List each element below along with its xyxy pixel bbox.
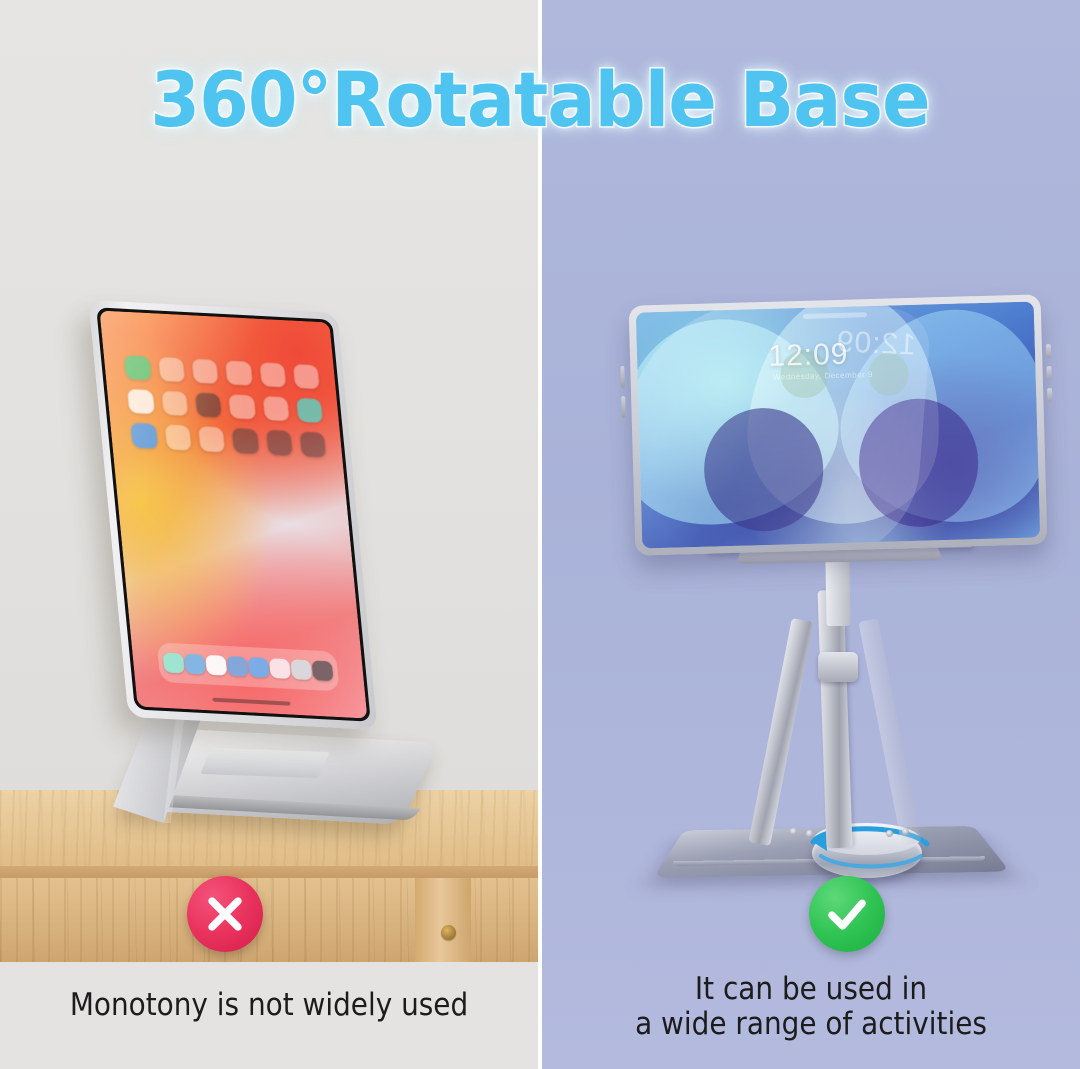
tablet-screen-portrait bbox=[96, 307, 371, 721]
desk-leg bbox=[415, 878, 471, 970]
stand-device-lip bbox=[200, 748, 330, 778]
dock-icon bbox=[226, 656, 248, 677]
app-icon bbox=[296, 398, 323, 423]
app-icon bbox=[165, 425, 192, 450]
caption-right: It can be used in a wide range of activi… bbox=[569, 972, 1053, 1043]
home-screen-wallpaper bbox=[99, 310, 367, 718]
tablet-dock bbox=[157, 643, 340, 692]
panel-divider bbox=[538, 0, 542, 1069]
app-icon bbox=[293, 364, 320, 389]
caption-left: Monotony is not widely used bbox=[27, 988, 511, 1023]
dock-icon bbox=[163, 653, 185, 674]
app-icon bbox=[192, 359, 219, 384]
app-icon bbox=[128, 389, 155, 414]
dock-icon bbox=[290, 659, 312, 680]
app-icon bbox=[131, 423, 158, 448]
dock-icon bbox=[269, 658, 291, 679]
negative-badge bbox=[187, 876, 263, 952]
app-icon bbox=[124, 355, 151, 380]
app-icon bbox=[232, 428, 259, 453]
app-icon bbox=[198, 427, 225, 452]
app-icon bbox=[158, 357, 185, 382]
cross-icon bbox=[199, 888, 251, 940]
panel-without-rotatable-base: Monotony is not widely used bbox=[0, 0, 538, 1069]
brass-screw-icon bbox=[441, 925, 456, 940]
product-comparison-image: Monotony is not widely used bbox=[0, 0, 1080, 1069]
dock-icon bbox=[184, 654, 206, 675]
app-icon bbox=[266, 430, 293, 455]
app-icon bbox=[259, 362, 286, 387]
home-indicator bbox=[212, 698, 291, 706]
panel-with-rotatable-base bbox=[542, 0, 1080, 1069]
app-icon bbox=[229, 394, 256, 419]
caption-right-line2: a wide range of activities bbox=[569, 1007, 1053, 1042]
dock-icon bbox=[248, 657, 270, 678]
app-icon bbox=[225, 360, 252, 385]
app-icon-grid bbox=[124, 355, 326, 457]
app-icon bbox=[195, 393, 222, 418]
tablet-portrait bbox=[88, 300, 377, 730]
dock-icon bbox=[311, 660, 333, 681]
caption-right-line1: It can be used in bbox=[695, 971, 927, 1007]
page-title: 360°Rotatable Base bbox=[32, 62, 1047, 138]
app-icon bbox=[299, 432, 326, 457]
app-icon bbox=[262, 396, 289, 421]
dock-icon bbox=[205, 655, 227, 676]
app-icon bbox=[161, 391, 188, 416]
